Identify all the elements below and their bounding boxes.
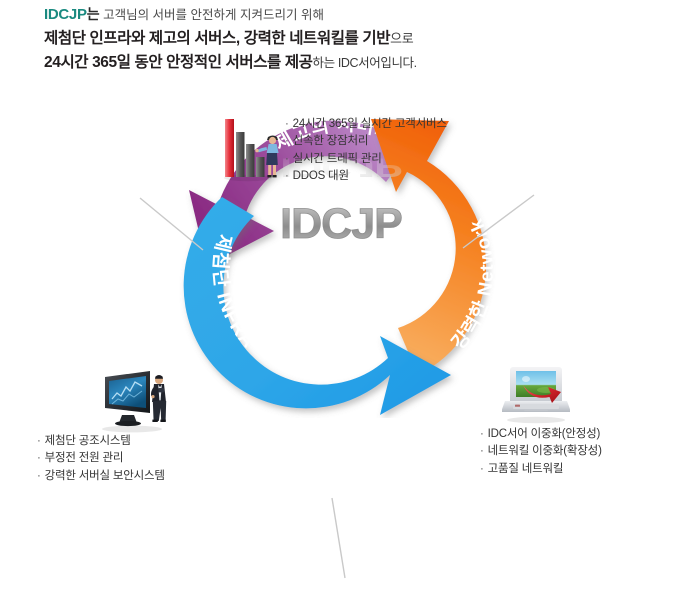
brand-name: IDCJP <box>44 6 87 23</box>
headline-line-3-tail: 하는 IDC서어입니다. <box>313 56 417 70</box>
list-item: 24시간 365일 실시간 고객서버스 <box>285 116 447 133</box>
list-item: 신속한 장잠처리 <box>285 133 447 150</box>
list-item: 제첨단 공조시스템 <box>37 433 165 450</box>
headline-line-1: IDCJP는 고객님의 서버를 안전하게 지켜드리기 위해 <box>44 5 644 25</box>
list-item: 네트워킬 이중화(확장성) <box>480 443 602 460</box>
bullet-list-service: 24시간 365일 실시간 고객서버스 신속한 장잠처리 실시간 트레픽 관리 … <box>285 116 447 186</box>
list-item: 부정전 전원 관리 <box>37 450 165 467</box>
brand-suffix: 는 <box>87 6 100 22</box>
list-item: DDOS 대원 <box>285 168 447 185</box>
connector-infra <box>332 498 345 578</box>
headline-line-2-main: 제첨단 인프라와 제고의 서버스, 강력한 네트워킬를 기반 <box>44 30 390 47</box>
list-item: 강력한 서버실 보안시스템 <box>37 468 165 485</box>
list-item: 실시간 트레픽 관리 <box>285 151 447 168</box>
headline-line-2-tail: 으로 <box>390 31 413 46</box>
bar-chart-presenter-icon <box>222 112 282 184</box>
headline-line-2: 제첨단 인프라와 제고의 서버스, 강력한 네트워킬를 기반으로 <box>44 29 644 50</box>
headline-block: IDCJP는 고객님의 서버를 안전하게 지켜드리기 위해 제첨단 인프라와 제… <box>44 5 644 74</box>
list-item: 고품질 네트워킬 <box>480 461 602 478</box>
monitor-businessman-icon <box>96 363 174 435</box>
diagram-stage: 제고의 서버스 강력한 Network 제첨단 INFRA IDCJP IDCJ… <box>0 78 680 600</box>
bullet-list-network: IDC서어 이중화(안정성) 네트워킬 이중화(확장성) 고품질 네트워킬 <box>480 426 602 478</box>
center-label: IDCJP <box>280 200 402 248</box>
headline-line-1-rest: 고객님의 서버를 안전하게 지켜드리기 위해 <box>103 8 324 22</box>
laptop-refresh-icon <box>502 359 570 425</box>
list-item: IDC서어 이중화(안정성) <box>480 426 602 443</box>
headline-line-3-main: 24시간 365일 동안 안정적인 서버스를 제공 <box>44 54 313 71</box>
bullet-list-infra: 제첨단 공조시스템 부정전 전원 관리 강력한 서버실 보안시스템 <box>37 433 165 485</box>
headline-line-3: 24시간 365일 동안 안정적인 서버스를 제공하는 IDC서어입니다. <box>44 53 644 74</box>
